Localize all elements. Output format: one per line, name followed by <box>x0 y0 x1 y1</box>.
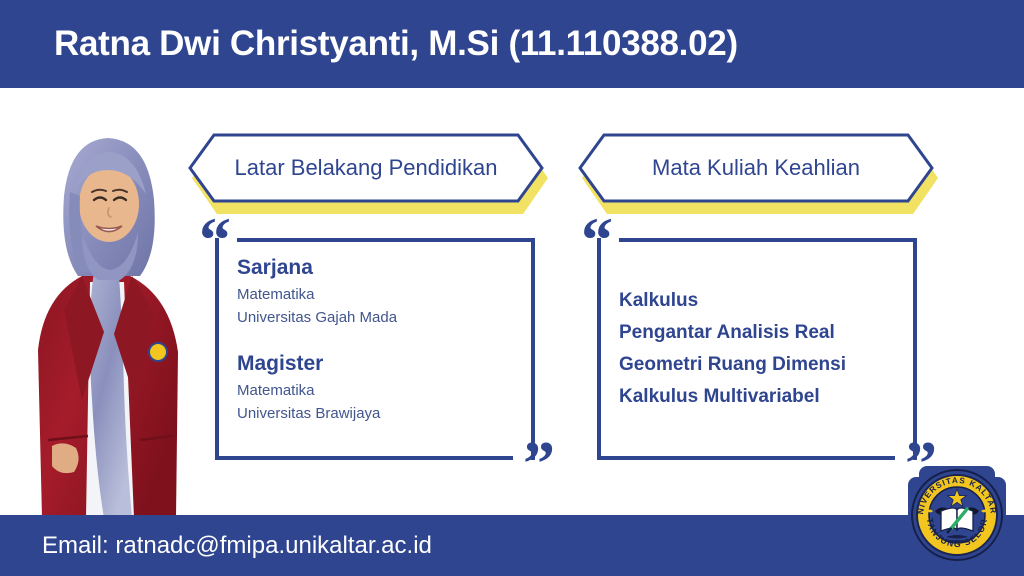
lecturer-portrait-photo <box>8 100 204 518</box>
degree-institution: Universitas Brawijaya <box>237 402 517 425</box>
degree-entry: Sarjana Matematika Universitas Gajah Mad… <box>237 256 517 330</box>
banner-education-label: Latar Belakang Pendidikan <box>188 132 544 204</box>
degree-major: Matematika <box>237 283 517 306</box>
courses-quote-box: “ ” Kalkulus Pengantar Analisis Real Geo… <box>597 238 917 460</box>
course-item: Geometri Ruang Dimensi <box>619 349 899 381</box>
degree-entry: Magister Matematika Universitas Brawijay… <box>237 352 517 426</box>
degree-level: Magister <box>237 352 517 376</box>
course-item: Kalkulus Multivariabel <box>619 381 899 413</box>
close-quote-icon: ” <box>523 432 553 496</box>
email-text: Email: ratnadc@fmipa.unikaltar.ac.id <box>42 532 432 560</box>
banner-education: Latar Belakang Pendidikan <box>188 132 544 214</box>
courses-content: Kalkulus Pengantar Analisis Real Geometr… <box>619 238 899 460</box>
header-bar: Ratna Dwi Christyanti, M.Si (11.110388.0… <box>0 0 1024 88</box>
degree-major: Matematika <box>237 379 517 402</box>
banner-courses-label: Mata Kuliah Keahlian <box>578 132 934 204</box>
education-quote-box: “ ” Sarjana Matematika Universitas Gajah… <box>215 238 535 460</box>
degree-level: Sarjana <box>237 256 517 280</box>
degree-institution: Universitas Gajah Mada <box>237 306 517 329</box>
banner-courses: Mata Kuliah Keahlian <box>578 132 934 214</box>
course-item: Pengantar Analisis Real <box>619 317 899 349</box>
university-seal-logo: UNIVERSITAS KALTARA TANJUNG SELOR <box>905 463 1009 567</box>
education-content: Sarjana Matematika Universitas Gajah Mad… <box>237 238 517 460</box>
footer-bar: Email: ratnadc@fmipa.unikaltar.ac.id <box>0 515 1024 576</box>
open-quote-icon: “ <box>199 208 229 272</box>
open-quote-icon: “ <box>581 208 611 272</box>
page-title: Ratna Dwi Christyanti, M.Si (11.110388.0… <box>54 24 738 64</box>
course-item: Kalkulus <box>619 285 899 317</box>
